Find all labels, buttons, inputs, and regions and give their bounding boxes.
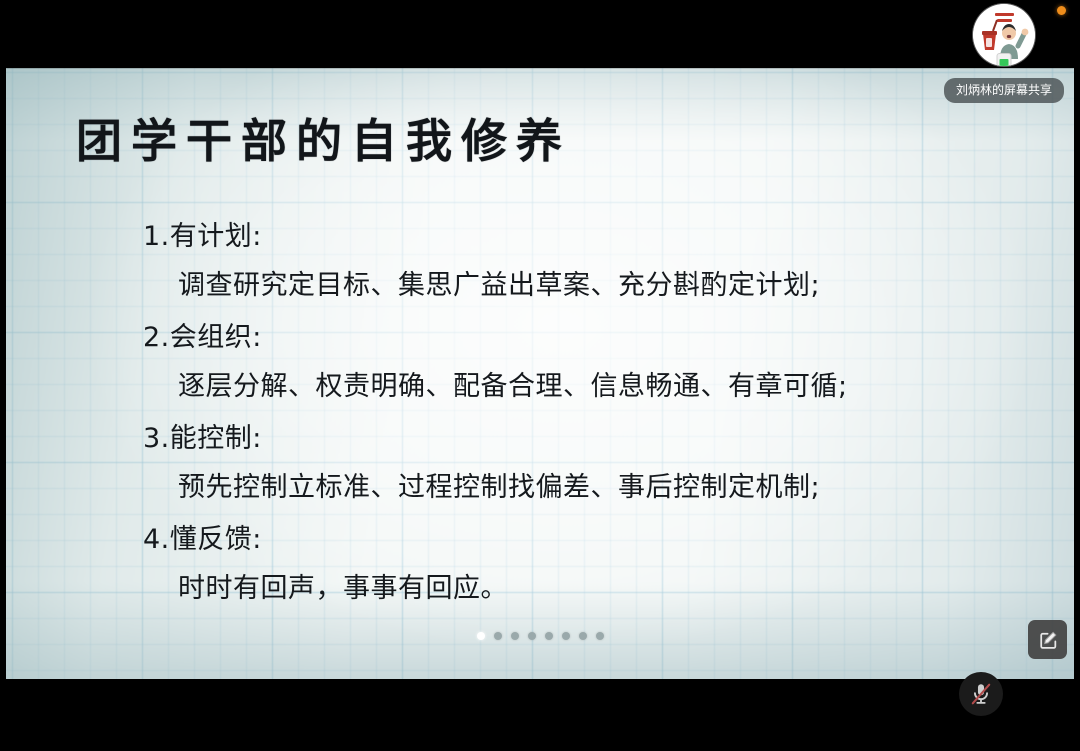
slide-content: 团学干部的自我修养 1.有计划: 调查研究定目标、集思广益出草案、充分斟酌定计划… (0, 0, 1080, 751)
pagination-dot-5[interactable] (545, 632, 553, 640)
screen-share-label: 刘炳林的屏幕共享 (944, 78, 1064, 103)
slide-point-1-detail: 调查研究定目标、集思广益出草案、充分斟酌定计划; (143, 260, 1003, 312)
pagination-dot-7[interactable] (579, 632, 587, 640)
pagination-dot-3[interactable] (511, 632, 519, 640)
slide-point-3-head: 3.能控制: (143, 416, 1003, 462)
presenter-tile[interactable]: 刘炳林的屏幕共享 (938, 4, 1070, 103)
microphone-muted-icon (968, 681, 994, 707)
meeting-screen-share-window: 团学干部的自我修养 1.有计划: 调查研究定目标、集思广益出草案、充分斟酌定计划… (0, 0, 1080, 751)
pagination-dot-8[interactable] (596, 632, 604, 640)
pencil-edit-icon (1037, 629, 1059, 651)
annotate-button[interactable] (1028, 620, 1067, 659)
pagination-dot-1[interactable] (477, 632, 485, 640)
slide-body-list: 1.有计划: 调查研究定目标、集思广益出草案、充分斟酌定计划; 2.会组织: 逐… (143, 214, 1003, 618)
slide-point-3-detail: 预先控制立标准、过程控制找偏差、事后控制定机制; (143, 462, 1003, 514)
slide-point-3: 3.能控制: 预先控制立标准、过程控制找偏差、事后控制定机制; (143, 416, 1003, 514)
slide-point-2-head: 2.会组织: (143, 315, 1003, 361)
pagination-dot-4[interactable] (528, 632, 536, 640)
recording-indicator-dot (1057, 6, 1066, 15)
slide-point-2-detail: 逐层分解、权责明确、配备合理、信息畅通、有章可循; (143, 361, 1003, 413)
pagination-dot-6[interactable] (562, 632, 570, 640)
slide-point-4: 4.懂反馈: 时时有回声，事事有回应。 (143, 517, 1003, 615)
microphone-mute-button[interactable] (959, 672, 1003, 716)
slide-point-4-detail: 时时有回声，事事有回应。 (143, 563, 1003, 615)
presenter-avatar[interactable] (973, 4, 1035, 66)
slide-point-4-head: 4.懂反馈: (143, 517, 1003, 563)
slide-pagination[interactable] (0, 632, 1080, 640)
slide-title: 团学干部的自我修养 (76, 116, 571, 168)
pagination-dot-2[interactable] (494, 632, 502, 640)
slide-point-1-head: 1.有计划: (143, 214, 1003, 260)
slide-point-2: 2.会组织: 逐层分解、权责明确、配备合理、信息畅通、有章可循; (143, 315, 1003, 413)
slide-point-1: 1.有计划: 调查研究定目标、集思广益出草案、充分斟酌定计划; (143, 214, 1003, 312)
presenter-status-badge (997, 53, 1012, 66)
